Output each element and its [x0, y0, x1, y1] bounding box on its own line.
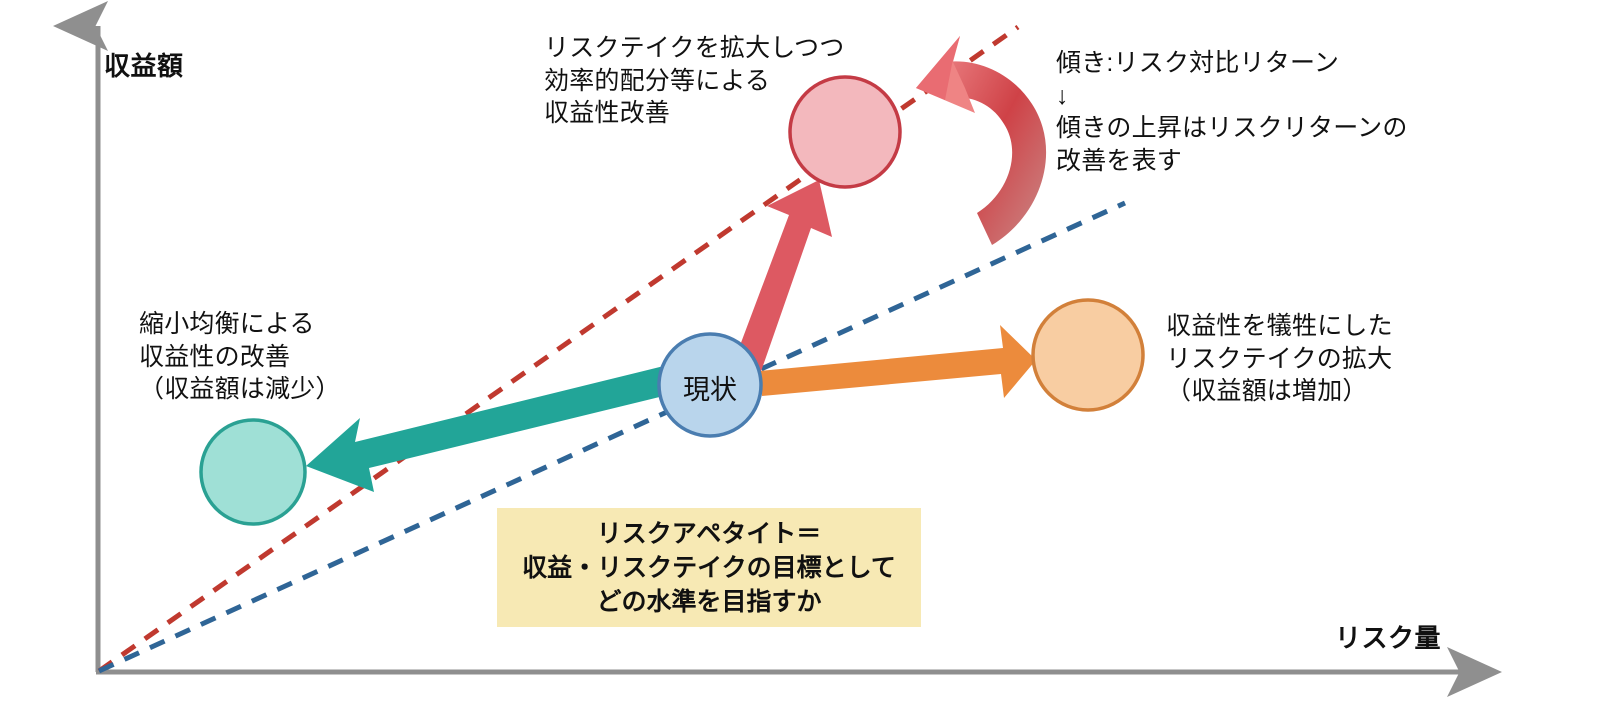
annotation-left: 縮小均衡による 収益性の改善 （収益額は減少）: [139, 308, 341, 406]
annotation-top-right: 傾き:リスク対比リターン ↓ 傾きの上昇はリスクリターンの 改善を表す: [1056, 47, 1408, 177]
node-current-label: 現状: [660, 368, 760, 407]
x-axis-label: リスク量: [1335, 622, 1441, 656]
orange-arrow-expand: [760, 325, 1036, 398]
node-expand-circle[interactable]: [1033, 300, 1143, 410]
annotation-top-center: リスクテイクを拡大しつつ 効率的配分等による 収益性改善: [544, 32, 844, 130]
risk-appetite-box: リスクアペタイト＝ 収益・リスクテイクの目標として どの水準を目指すか: [497, 508, 921, 627]
y-axis-label: 収益額: [104, 50, 184, 84]
diagram-canvas: 収益額 リスク量 リスクテイクを拡大しつつ 効率的配分等による 収益性改善 傾き…: [0, 0, 1600, 722]
annotation-right: 収益性を犠牲にした リスクテイクの拡大 （収益額は増加）: [1166, 310, 1393, 408]
node-shrink-circle[interactable]: [201, 420, 305, 524]
red-curved-rotation-arrow: [916, 36, 1046, 245]
